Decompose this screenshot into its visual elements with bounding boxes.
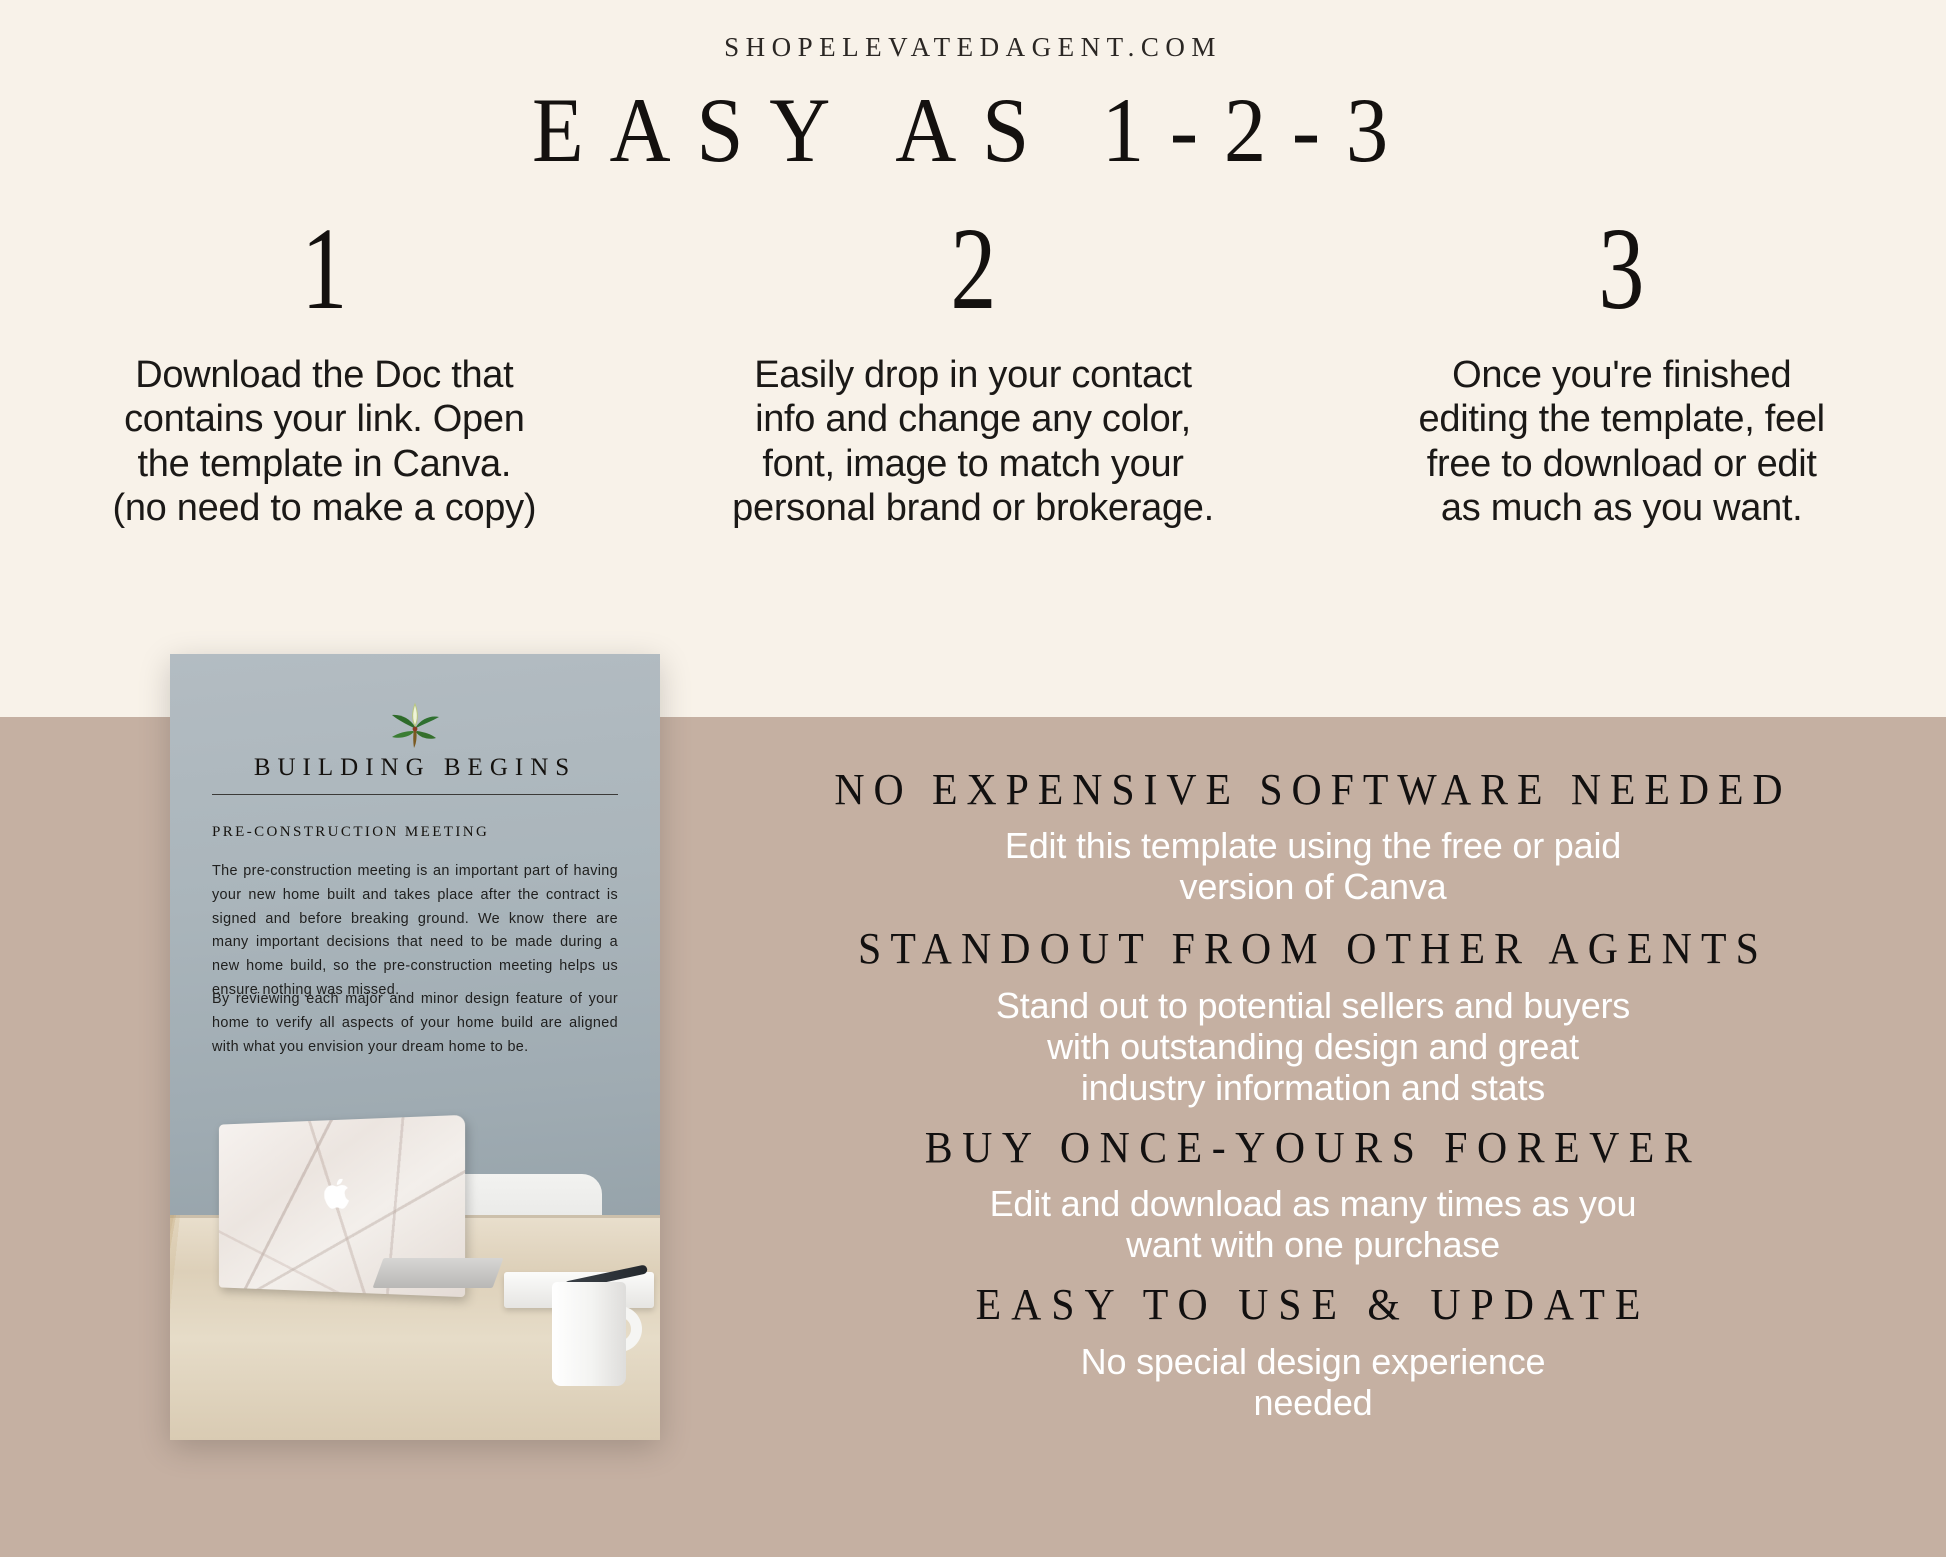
step-2: 2 Easily drop in your contact info and c… [649, 210, 1298, 531]
step-2-number: 2 [720, 210, 1226, 328]
mockup-divider [212, 794, 618, 795]
feature-1-title: NO EXPENSIVE SOFTWARE NEEDED [712, 760, 1915, 819]
coffee-mug [552, 1282, 626, 1386]
feature-3-body: Edit and download as many times as you w… [680, 1183, 1946, 1265]
steps-row: 1 Download the Doc that contains your li… [0, 210, 1946, 531]
mockup-subtitle: PRE-CONSTRUCTION MEETING [212, 824, 489, 841]
step-3-text: Once you're finished editing the templat… [1297, 353, 1946, 531]
step-1: 1 Download the Doc that contains your li… [0, 210, 649, 531]
feature-item-1: NO EXPENSIVE SOFTWARE NEEDED Edit this t… [680, 760, 1946, 907]
feature-item-2: STANDOUT FROM OTHER AGENTS Stand out to … [680, 919, 1946, 1107]
step-1-text: Download the Doc that contains your link… [0, 353, 649, 531]
step-1-number: 1 [71, 210, 577, 328]
feature-3-title: BUY ONCE-YOURS FOREVER [712, 1118, 1915, 1177]
step-3: 3 Once you're finished editing the templ… [1297, 210, 1946, 531]
template-mockup-photo: BUILDING BEGINS PRE-CONSTRUCTION MEETING… [170, 654, 660, 1440]
feature-4-body: No special design experience needed [680, 1341, 1946, 1423]
feature-1-body: Edit this template using the free or pai… [680, 825, 1946, 907]
feature-2-title: STANDOUT FROM OTHER AGENTS [712, 919, 1915, 978]
mockup-paragraph-1: The pre-construction meeting is an impor… [212, 860, 618, 1003]
laptop-base [373, 1258, 504, 1288]
step-3-number: 3 [1369, 210, 1875, 328]
site-url: SHOPELEVATEDAGENT.COM [0, 32, 1946, 63]
feature-item-4: EASY TO USE & UPDATE No special design e… [680, 1275, 1946, 1422]
macbook-laptop [210, 1120, 460, 1292]
botanical-leaf-icon [384, 698, 446, 754]
poster-canvas: SHOPELEVATEDAGENT.COM EASY AS 1-2-3 1 Do… [0, 0, 1946, 1557]
mockup-paragraph-2: By reviewing each major and minor design… [212, 988, 618, 1059]
page-title: EASY AS 1-2-3 [78, 82, 1868, 179]
feature-2-body: Stand out to potential sellers and buyer… [680, 985, 1946, 1108]
feature-list: NO EXPENSIVE SOFTWARE NEEDED Edit this t… [680, 760, 1946, 1429]
apple-logo-icon [323, 1179, 357, 1219]
mockup-title: BUILDING BEGINS [170, 754, 660, 782]
step-2-text: Easily drop in your contact info and cha… [649, 353, 1298, 531]
feature-item-3: BUY ONCE-YOURS FOREVER Edit and download… [680, 1118, 1946, 1265]
feature-4-title: EASY TO USE & UPDATE [712, 1275, 1915, 1334]
